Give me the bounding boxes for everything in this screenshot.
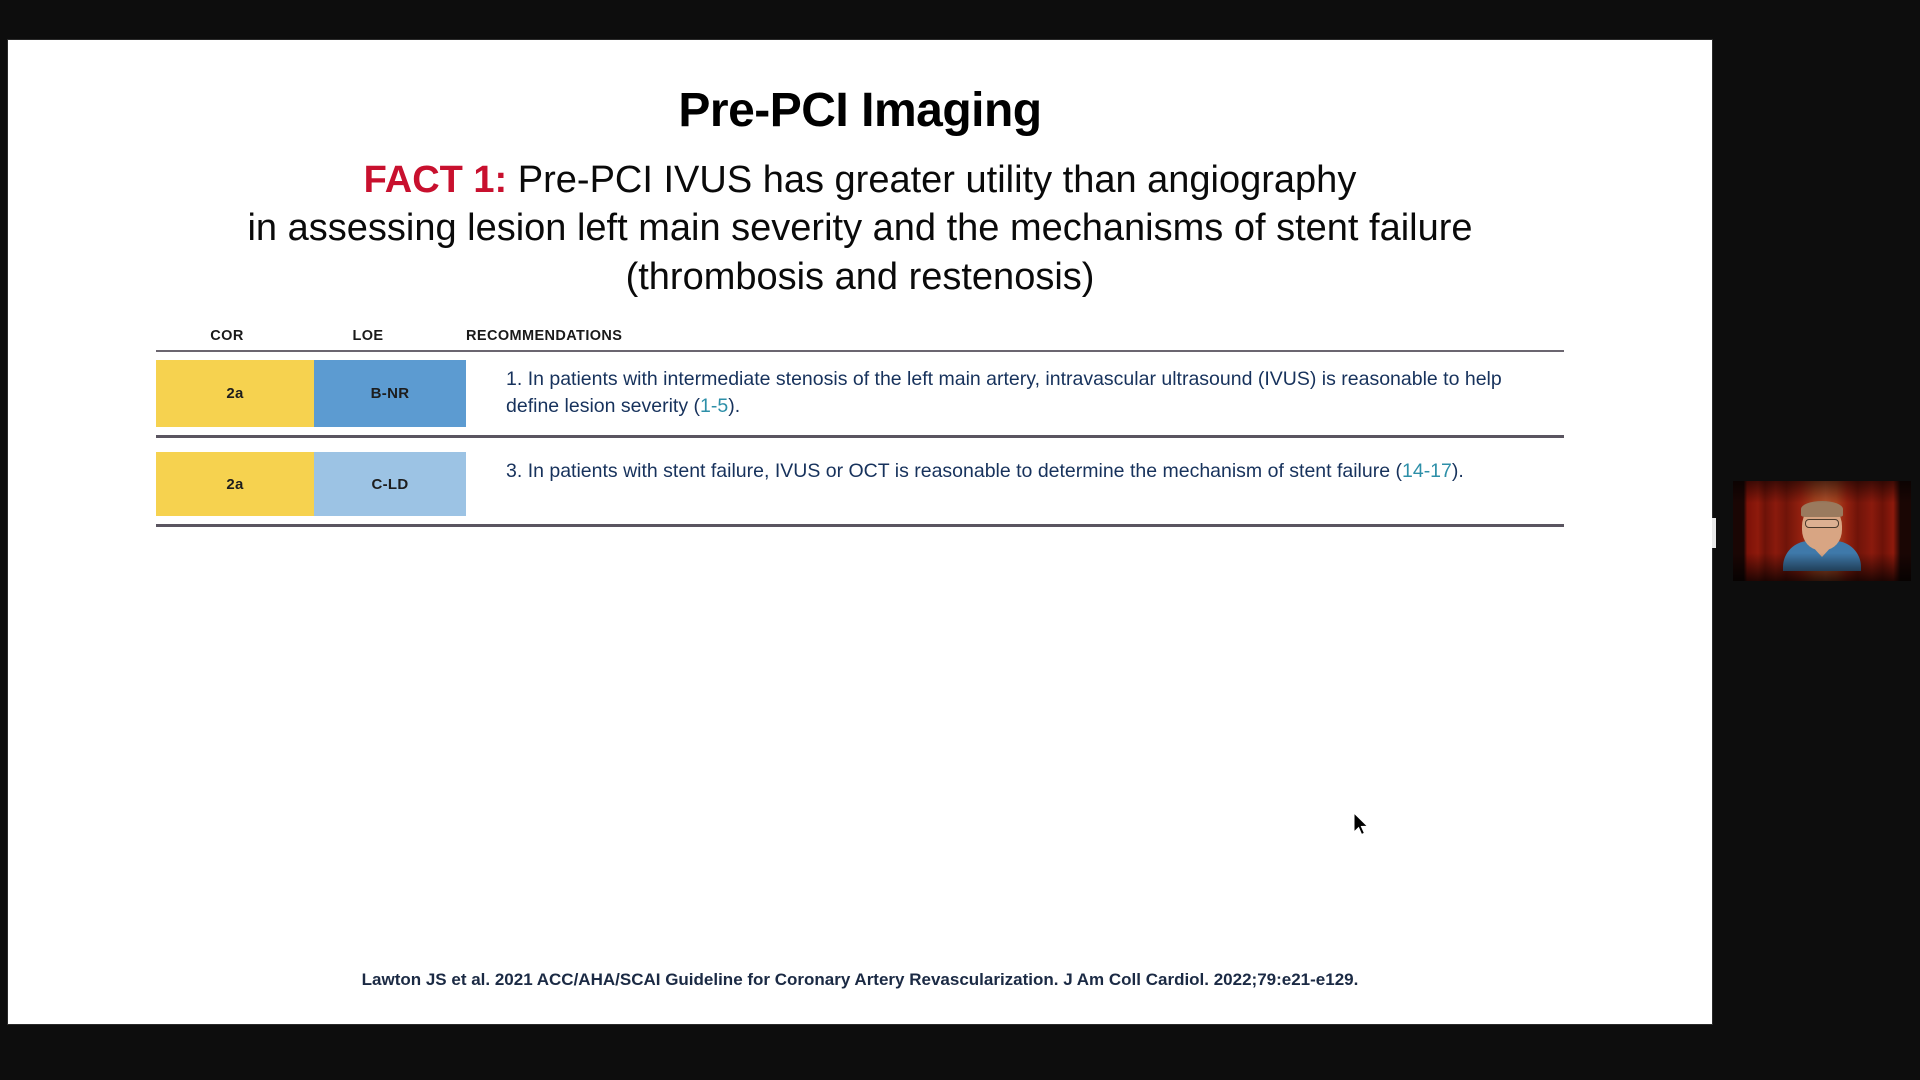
recommendation-table: COR LOE RECOMMENDATIONS 2a B-NR 1. In pa…	[156, 328, 1564, 527]
column-header-cor: COR	[156, 328, 298, 344]
loe-badge: B-NR	[314, 360, 466, 427]
webcam-video-tile[interactable]	[1733, 481, 1911, 581]
slide-title: Pre-PCI Imaging	[8, 83, 1712, 138]
webcam-letterbox-shade	[1733, 481, 1911, 581]
fact-line-2: in assessing lesion left main severity a…	[32, 204, 1688, 252]
loe-badge: C-LD	[314, 452, 466, 516]
fact-line-1-text: Pre-PCI IVUS has greater utility than an…	[507, 159, 1356, 201]
fact-label: FACT 1:	[364, 159, 508, 201]
pane-resize-handle[interactable]	[1712, 518, 1716, 548]
reference-link[interactable]: 14-17	[1402, 460, 1452, 482]
cor-badge: 2a	[156, 452, 314, 516]
recommendation-body-tail: ).	[728, 395, 740, 417]
recommendation-text: 1. In patients with intermediate stenosi…	[466, 352, 1564, 435]
table-header-row: COR LOE RECOMMENDATIONS	[156, 328, 1564, 350]
reference-link[interactable]: 1-5	[700, 395, 728, 417]
recommendation-text: 3. In patients with stent failure, IVUS …	[466, 444, 1564, 524]
table-rule-bottom	[156, 524, 1564, 527]
recommendation-body: In patients with stent failure, IVUS or …	[528, 460, 1402, 482]
citation-footer: Lawton JS et al. 2021 ACC/AHA/SCAI Guide…	[8, 970, 1712, 990]
table-row: 2a B-NR 1. In patients with intermediate…	[156, 352, 1564, 435]
class-of-recommendation-group: 2a C-LD	[156, 444, 466, 524]
class-of-recommendation-group: 2a B-NR	[156, 352, 466, 435]
column-header-recommendations: RECOMMENDATIONS	[438, 328, 1564, 344]
recommendation-body-tail: ).	[1452, 460, 1464, 482]
fact-line-1: FACT 1: Pre-PCI IVUS has greater utility…	[32, 156, 1688, 204]
recommendation-number: 1.	[506, 368, 522, 390]
table-row: 2a C-LD 3. In patients with stent failur…	[156, 444, 1564, 524]
fact-line-3: (thrombosis and restenosis)	[32, 253, 1688, 301]
presentation-viewer: Pre-PCI Imaging FACT 1: Pre-PCI IVUS has…	[0, 0, 1920, 1080]
recommendation-body: In patients with intermediate stenosis o…	[506, 368, 1502, 418]
fact-statement: FACT 1: Pre-PCI IVUS has greater utility…	[8, 156, 1712, 301]
recommendation-number: 3.	[506, 460, 522, 482]
slide-canvas: Pre-PCI Imaging FACT 1: Pre-PCI IVUS has…	[8, 40, 1712, 1024]
column-header-loe: LOE	[298, 328, 438, 344]
cor-badge: 2a	[156, 360, 314, 427]
